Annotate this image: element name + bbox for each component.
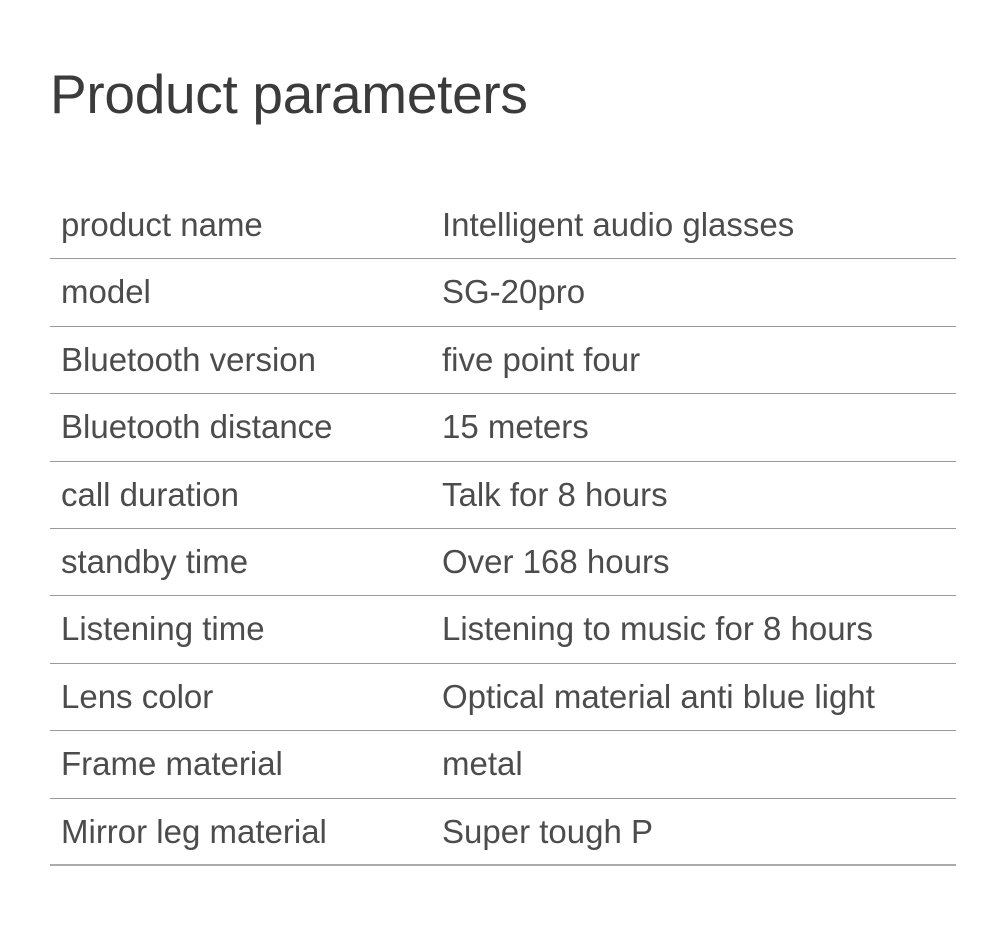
spec-value: Optical material anti blue light (442, 664, 956, 717)
spec-label: Lens color (50, 664, 442, 717)
table-row: standby timeOver 168 hours (50, 529, 956, 596)
spec-label: Mirror leg material (50, 799, 442, 852)
spec-value: 15 meters (442, 394, 956, 447)
spec-label: call duration (50, 462, 442, 515)
product-parameters-page: Product parameters product nameIntellige… (0, 0, 1000, 941)
spec-value: Super tough P (442, 799, 956, 852)
spec-value: Listening to music for 8 hours (442, 596, 956, 649)
spec-label: Listening time (50, 596, 442, 649)
table-row: Mirror leg materialSuper tough P (50, 799, 956, 866)
spec-label: standby time (50, 529, 442, 582)
spec-label: product name (50, 192, 442, 245)
table-row: Lens colorOptical material anti blue lig… (50, 664, 956, 731)
spec-label: model (50, 259, 442, 312)
table-row: call durationTalk for 8 hours (50, 462, 956, 529)
spec-value: Talk for 8 hours (442, 462, 956, 515)
spec-label: Bluetooth distance (50, 394, 442, 447)
product-parameters-table: product nameIntelligent audio glassesmod… (50, 192, 956, 866)
table-row: Bluetooth distance15 meters (50, 394, 956, 461)
spec-value: Intelligent audio glasses (442, 192, 956, 245)
spec-value: Over 168 hours (442, 529, 956, 582)
spec-label: Bluetooth version (50, 327, 442, 380)
table-row: modelSG-20pro (50, 259, 956, 326)
table-row: product nameIntelligent audio glasses (50, 192, 956, 259)
table-row: Frame materialmetal (50, 731, 956, 798)
table-row: Listening timeListening to music for 8 h… (50, 596, 956, 663)
table-row: Bluetooth versionfive point four (50, 327, 956, 394)
page-title: Product parameters (50, 63, 528, 126)
spec-value: five point four (442, 327, 956, 380)
spec-value: metal (442, 731, 956, 784)
spec-value: SG-20pro (442, 259, 956, 312)
spec-label: Frame material (50, 731, 442, 784)
